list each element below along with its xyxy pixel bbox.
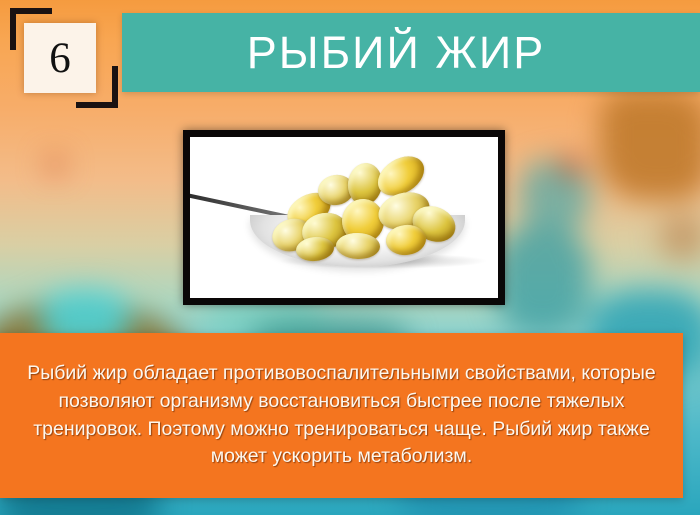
background-blob bbox=[45, 155, 65, 175]
background-blob bbox=[660, 215, 700, 260]
number-badge: 6 bbox=[10, 8, 120, 108]
photo-image-fish-oil-capsules bbox=[190, 137, 498, 298]
description-panel: Рыбий жир обладает противовоспалительным… bbox=[0, 333, 683, 498]
page-title: РЫБИЙ ЖИР bbox=[247, 27, 575, 79]
description-text: Рыбий жир обладает противовоспалительным… bbox=[0, 360, 683, 472]
background-blob bbox=[600, 90, 700, 200]
title-banner: РЫБИЙ ЖИР bbox=[122, 13, 700, 92]
slide-root: 6 РЫБИЙ ЖИР Рыбий жир обладает противово… bbox=[0, 0, 700, 515]
badge-number-label: 6 bbox=[24, 23, 96, 93]
background-blob bbox=[495, 225, 590, 335]
background-blob bbox=[560, 155, 582, 177]
photo-frame bbox=[183, 130, 505, 305]
